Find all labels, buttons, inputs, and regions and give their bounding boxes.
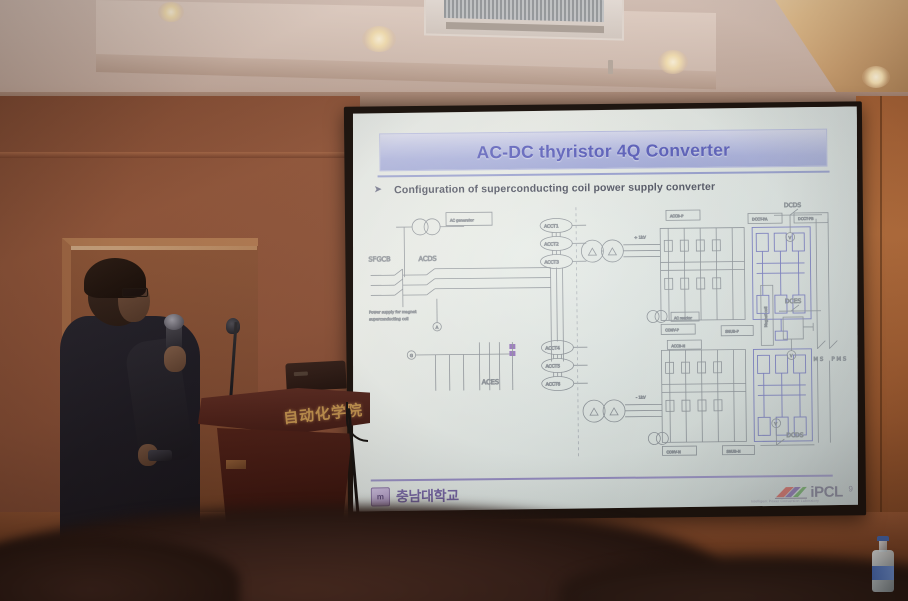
university-emblem-icon: m <box>371 487 390 506</box>
svg-text:CONV-P: CONV-P <box>665 328 680 332</box>
bullet-arrow-icon: ➤ <box>374 185 382 195</box>
svg-text:P M S: P M S <box>831 356 846 362</box>
glasses-icon <box>122 288 148 297</box>
laptop-logo-icon <box>294 371 308 376</box>
ceiling-downlight-4 <box>158 2 184 22</box>
svg-text:ACES: ACES <box>482 378 499 386</box>
svg-text:V: V <box>788 235 791 240</box>
svg-text:ACCT1: ACCT1 <box>544 223 559 229</box>
svg-text:ACCT3: ACCT3 <box>544 259 559 265</box>
svg-text:V: V <box>790 353 793 358</box>
ceiling-downlight-1 <box>362 26 396 52</box>
bottle-label <box>872 566 894 580</box>
svg-text:M S: M S <box>813 357 823 363</box>
ceiling-downlight-2 <box>658 50 688 74</box>
slide-page-number: 9 <box>848 484 853 493</box>
svg-text:ACCB-P: ACCB-P <box>670 214 684 218</box>
svg-text:SFGCB: SFGCB <box>368 255 391 263</box>
svg-text:DCCT-PB: DCCT-PB <box>798 217 814 221</box>
podium: 自动化学院 <box>198 388 370 522</box>
presenter-hand-holding-mic <box>164 346 186 372</box>
svg-text:AC generator: AC generator <box>450 218 474 222</box>
vent-grille <box>444 0 604 22</box>
svg-text:DCDS: DCDS <box>786 432 804 439</box>
screen-surface: AC-DC thyristor 4Q Converter ➤ Configura… <box>349 106 861 511</box>
svg-text:V: V <box>774 421 777 426</box>
wall-rail-trim <box>0 152 360 158</box>
slide-subtitle: Configuration of superconducting coil po… <box>394 181 715 196</box>
svg-text:ACCT6: ACCT6 <box>546 381 561 387</box>
svg-text:ACDS: ACDS <box>418 255 436 263</box>
ipcl-mark-icon <box>774 484 808 499</box>
presentation-clicker[interactable] <box>148 450 172 461</box>
projection-screen: AC-DC thyristor 4Q Converter ➤ Configura… <box>344 101 866 520</box>
podium-nameplate <box>226 460 246 469</box>
bottle-cap <box>877 536 889 541</box>
svg-text:ACCT2: ACCT2 <box>544 241 559 247</box>
svg-text:A: A <box>436 325 439 330</box>
wall-right-seam <box>880 96 882 556</box>
svg-text:- 1kV: - 1kV <box>636 395 646 400</box>
svg-text:superconducting coil: superconducting coil <box>369 316 408 321</box>
svg-text:DCCT-PA: DCCT-PA <box>752 217 768 221</box>
microphone-head-icon <box>164 314 184 330</box>
svg-text:ACCT5: ACCT5 <box>546 363 561 369</box>
presentation-scene: AC-DC thyristor 4Q Converter ➤ Configura… <box>0 0 908 601</box>
svg-text:SNUB-N: SNUB-N <box>726 450 740 454</box>
footer-spacer <box>459 492 774 495</box>
slide-title: AC-DC thyristor 4Q Converter <box>379 133 827 170</box>
slide: AC-DC thyristor 4Q Converter ➤ Configura… <box>349 106 861 511</box>
svg-text:SNUB-P: SNUB-P <box>725 330 739 334</box>
svg-text:ACCB-N: ACCB-N <box>671 344 685 348</box>
ceiling-sprinkler <box>608 60 613 74</box>
circuit-diagram: SFGCB ACDS ACES AC generator <box>360 198 855 465</box>
slide-subtitle-row: ➤ Configuration of superconducting coil … <box>374 177 834 200</box>
svg-text:G: G <box>410 353 413 358</box>
university-name: 충남대학교 <box>396 486 459 507</box>
vent-louver <box>446 22 604 33</box>
svg-text:CONV-N: CONV-N <box>666 450 681 454</box>
svg-text:+ 1kV: + 1kV <box>634 235 646 240</box>
air-conditioner-vent <box>424 0 624 41</box>
ceiling-downlight-3 <box>862 66 890 88</box>
svg-text:Power supply for magnet: Power supply for magnet <box>369 309 417 315</box>
svg-text:DCES: DCES <box>785 298 802 305</box>
svg-text:DCDS: DCDS <box>784 202 802 209</box>
svg-text:Magnet coil: Magnet coil <box>764 306 768 327</box>
water-bottle <box>872 536 894 592</box>
laptop[interactable] <box>285 360 346 391</box>
svg-text:AC reactor: AC reactor <box>674 316 692 320</box>
slide-footer: m 충남대학교 iPCL <box>371 479 843 510</box>
svg-text:ACCT4: ACCT4 <box>545 345 560 351</box>
ipcl-logo-text: iPCL <box>810 483 843 500</box>
ipcl-logo-subtitle: Intelligent Power Conversion Laboratory <box>751 499 819 504</box>
